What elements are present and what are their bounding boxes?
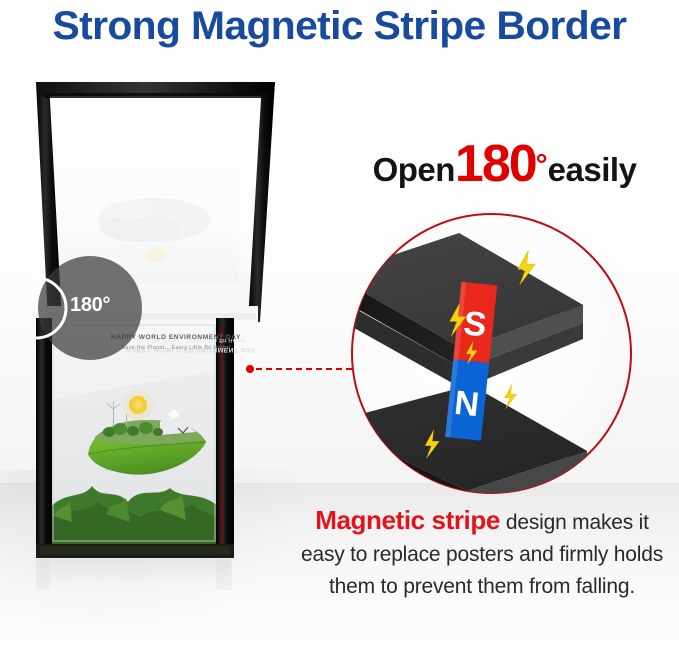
connector-dot — [246, 365, 254, 373]
magnet-detail-callout: S N — [351, 213, 632, 494]
open-angle-callout: Open180°easily — [330, 137, 679, 191]
magnet-south-label: S — [462, 304, 489, 344]
open-word: Open — [373, 151, 455, 188]
blurb-line3: them to prevent them from falling. — [329, 575, 635, 598]
spark-icon — [505, 385, 517, 409]
blurb-line2: easy to replace posters and firmly holds — [301, 543, 663, 566]
magnet-north-label: N — [453, 384, 481, 424]
feature-description: Magnetic stripe design makes it easy to … — [292, 505, 672, 602]
angle-number: 180 — [455, 135, 536, 193]
blurb-line1-rest: design makes it — [506, 511, 649, 534]
angle-badge-label: 180° — [70, 290, 140, 320]
floor-reflection — [36, 559, 232, 590]
callout-circle-content: S N — [352, 214, 631, 493]
product-feature-image: Strong Magnetic Stripe Border — [0, 0, 679, 664]
degree-symbol: ° — [536, 149, 548, 182]
easily-word: easily — [548, 151, 637, 188]
angle-arc-icon — [26, 274, 72, 342]
connector-line — [256, 368, 362, 370]
angle-badge: 180° — [38, 256, 142, 360]
blurb-highlight: Magnetic stripe — [315, 505, 500, 535]
callout-connector — [246, 363, 364, 375]
page-title: Strong Magnetic Stripe Border — [0, 2, 679, 52]
